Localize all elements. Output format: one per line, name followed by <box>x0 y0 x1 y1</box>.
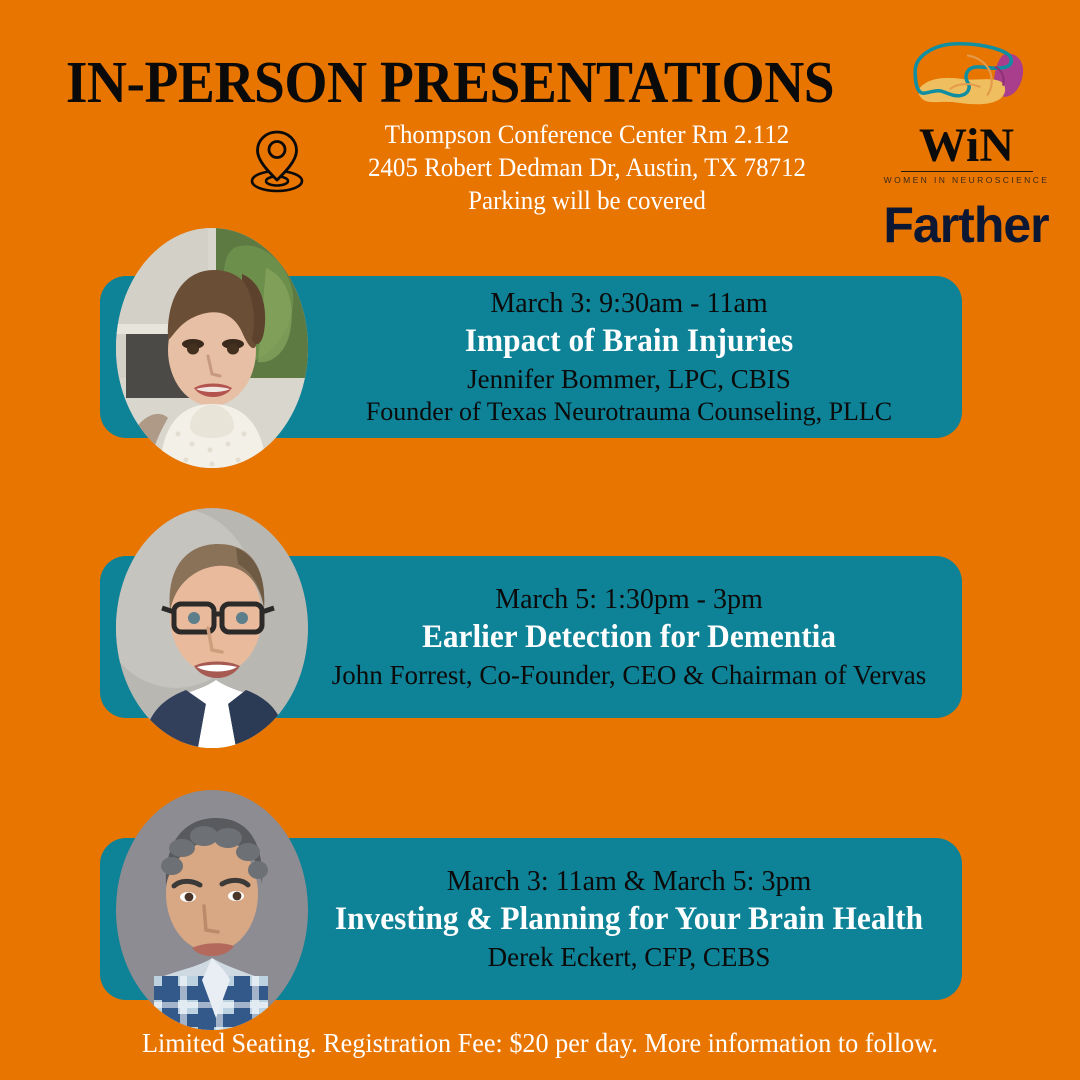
session-affiliation: Founder of Texas Neurotrauma Counseling,… <box>310 396 948 427</box>
venue-line-2: 2405 Robert Dedman Dr, Austin, TX 78712 <box>317 151 857 184</box>
session-speaker: Jennifer Bommer, LPC, CBIS <box>310 363 948 395</box>
poster-canvas: IN-PERSON PRESENTATIONS Thompson Confere… <box>0 0 1080 1080</box>
footer-note: Limited Seating. Registration Fee: $20 p… <box>16 1028 1064 1059</box>
location-pin-icon <box>248 124 306 198</box>
session-speaker: Derek Eckert, CFP, CEBS <box>310 941 948 973</box>
session-date: March 3: 9:30am - 11am <box>310 287 948 320</box>
portrait-jennifer-bommer <box>116 228 308 468</box>
win-tagline: WOMEN IN NEUROSCIENCE <box>874 175 1059 185</box>
session-title: Impact of Brain Injuries <box>326 320 932 363</box>
session-title: Investing & Planning for Your Brain Heal… <box>326 898 932 941</box>
win-logo: WiN WOMEN IN NEUROSCIENCE <box>874 34 1059 185</box>
session-speaker: John Forrest, Co-Founder, CEO & Chairman… <box>310 659 948 691</box>
session-date: March 3: 11am & March 5: 3pm <box>310 865 948 898</box>
farther-logo: Farther <box>866 196 1066 254</box>
venue-line-1: Thompson Conference Center Rm 2.112 <box>317 118 857 151</box>
venue-block: Thompson Conference Center Rm 2.112 2405… <box>248 118 868 217</box>
portrait-derek-eckert <box>116 790 308 1030</box>
win-wordmark: WiN <box>874 123 1059 169</box>
venue-line-3: Parking will be covered <box>317 184 857 217</box>
session-date: March 5: 1:30pm - 3pm <box>310 583 948 616</box>
venue-address: Thompson Conference Center Rm 2.112 2405… <box>317 118 857 217</box>
brain-icon <box>874 34 1059 122</box>
portrait-john-forrest <box>116 508 308 748</box>
session-title: Earlier Detection for Dementia <box>326 616 932 659</box>
page-title: IN-PERSON PRESENTATIONS <box>27 48 873 117</box>
